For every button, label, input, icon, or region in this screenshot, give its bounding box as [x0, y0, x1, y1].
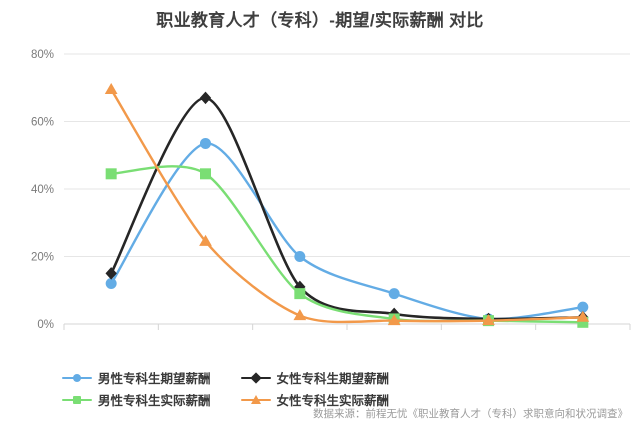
legend-symbol — [73, 396, 81, 404]
legend-label: 男性专科生实际薪酬 — [98, 390, 211, 409]
data-point-marker — [201, 92, 211, 103]
legend-symbol — [251, 395, 261, 404]
data-point-marker — [295, 289, 305, 299]
legend-item-3[interactable]: 男性专科生实际薪酬 — [62, 390, 211, 409]
y-axis-tick-label: 60% — [31, 117, 54, 129]
legend-label: 男性专科生期望薪酬 — [98, 368, 211, 387]
y-axis-tick-label: 0% — [37, 319, 54, 330]
series-path — [111, 166, 583, 322]
legend-marker-square-icon — [62, 393, 92, 407]
data-point-marker — [106, 84, 117, 94]
y-axis-tick-label: 20% — [31, 252, 54, 264]
data-point-marker — [295, 252, 305, 262]
data-point-marker — [389, 289, 399, 299]
series-path — [111, 143, 583, 319]
plot-svg: 0%20%40%60%80%5000元以下5001-8000元8001-1000… — [0, 40, 640, 330]
legend-symbol — [73, 374, 81, 382]
y-axis-tick-label: 80% — [31, 49, 54, 61]
series-line-2 — [106, 92, 588, 324]
series-path — [111, 89, 583, 322]
source-note: 数据来源：前程无忧《职业教育人才（专科）求职意向和状况调查》 — [313, 406, 628, 421]
plot-area: 0%20%40%60%80%5000元以下5001-8000元8001-1000… — [0, 40, 640, 330]
legend-marker-diamond-icon — [241, 371, 271, 385]
series-line-3 — [106, 166, 588, 327]
chart-title: 职业教育人才（专科）-期望/实际薪酬 对比 — [0, 6, 640, 31]
data-point-marker — [106, 279, 116, 289]
data-point-marker — [201, 169, 211, 179]
legend-marker-circle-icon — [62, 371, 92, 385]
y-axis-tick-label: 40% — [31, 184, 54, 196]
legend-marker-triangle-icon — [241, 393, 271, 407]
series-line-4 — [106, 84, 589, 325]
data-point-marker — [201, 138, 211, 148]
legend-item-2[interactable]: 女性专科生期望薪酬 — [241, 368, 390, 387]
data-point-marker — [578, 302, 588, 312]
legend-symbol — [250, 372, 261, 383]
chart-container: 职业教育人才（专科）-期望/实际薪酬 对比 0%20%40%60%80%5000… — [0, 0, 640, 427]
data-point-marker — [106, 169, 116, 179]
legend-label: 女性专科生期望薪酬 — [277, 368, 390, 387]
legend-item-1[interactable]: 男性专科生期望薪酬 — [62, 368, 211, 387]
